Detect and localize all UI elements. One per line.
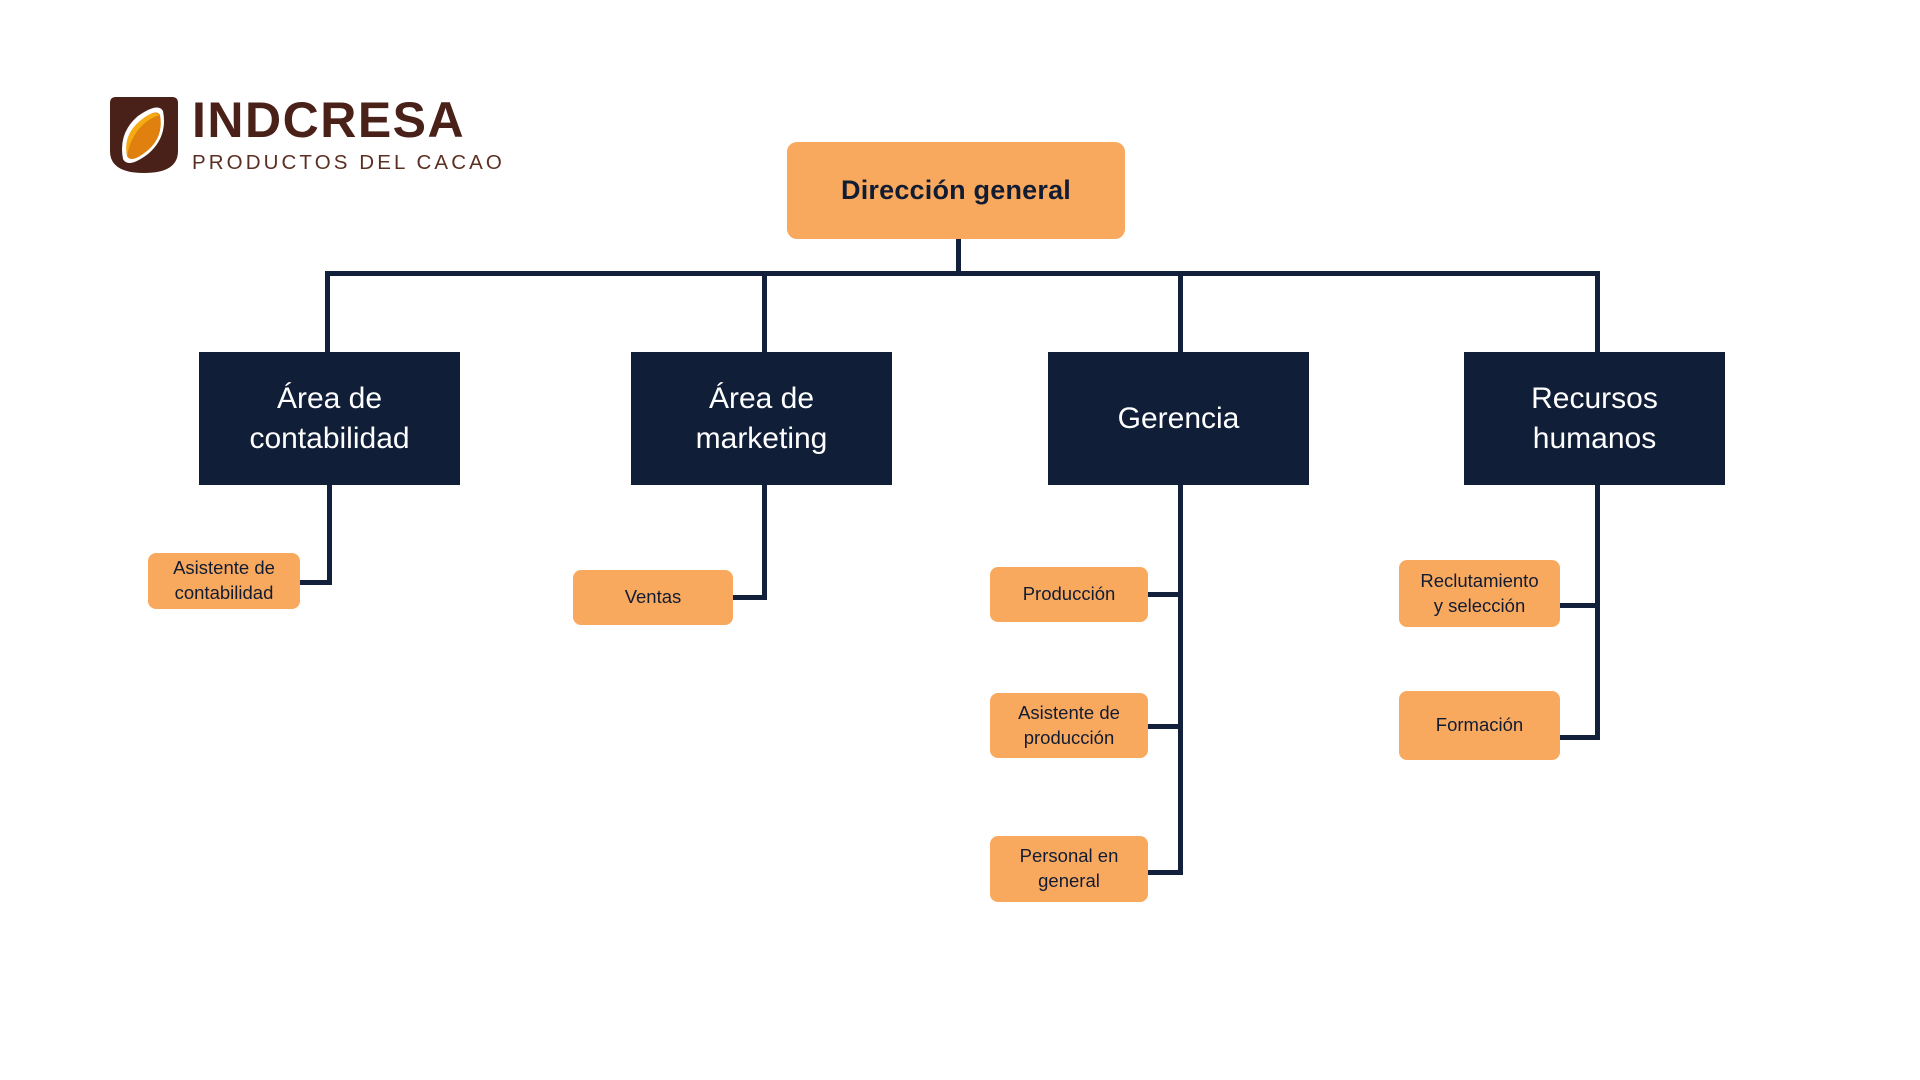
org-node-label: Dirección general	[841, 175, 1071, 206]
connector-spine-marketing	[762, 485, 767, 600]
org-node-ventas[interactable]: Ventas	[573, 570, 733, 625]
connector-drop-gerencia	[1178, 271, 1183, 353]
org-node-label: Producción	[1023, 582, 1116, 607]
org-node-label-line2: contabilidad	[175, 582, 274, 603]
connector-drop-contabilidad	[325, 271, 330, 353]
org-node-label-line1: Reclutamiento	[1420, 570, 1538, 591]
org-node-label: Personal en general	[1020, 844, 1119, 894]
connector-stub-produccion	[1148, 592, 1183, 597]
org-node-label: Gerencia	[1118, 399, 1240, 439]
org-node-label-line2: contabilidad	[249, 422, 409, 455]
org-node-label-line1: Área de	[709, 382, 814, 415]
org-node-label-line2: y selección	[1434, 595, 1526, 616]
org-node-label: Área de marketing	[696, 379, 828, 458]
connector-bus	[325, 271, 1600, 276]
connector-stub-reclutamiento	[1560, 603, 1600, 608]
org-node-produccion[interactable]: Producción	[990, 567, 1148, 622]
connector-spine-contabilidad	[327, 485, 332, 585]
org-node-label-line1: Área de	[277, 382, 382, 415]
org-node-label: Ventas	[625, 585, 682, 610]
org-node-gerencia[interactable]: Gerencia	[1048, 352, 1309, 485]
org-node-label-line2: humanos	[1533, 422, 1656, 455]
org-node-label: Recursos humanos	[1531, 379, 1658, 458]
cacao-bean-icon	[110, 97, 178, 173]
connector-stub-ventas	[733, 595, 767, 600]
org-node-label-line2: producción	[1024, 727, 1115, 748]
connector-spine-rrhh	[1595, 485, 1600, 738]
org-node-personal-general[interactable]: Personal en general	[990, 836, 1148, 902]
org-node-label: Área de contabilidad	[249, 379, 409, 458]
connector-spine-gerencia	[1178, 485, 1183, 875]
org-node-label: Formación	[1436, 713, 1523, 738]
connector-drop-rrhh	[1595, 271, 1600, 353]
org-node-label-line2: marketing	[696, 422, 828, 455]
connector-root-stem	[956, 238, 961, 273]
org-node-label-line1: Asistente de	[173, 557, 275, 578]
brand-name: INDCRESA	[192, 95, 505, 145]
brand-logo-text: INDCRESA PRODUCTOS DEL CACAO	[192, 95, 505, 175]
org-node-area-contabilidad[interactable]: Área de contabilidad	[199, 352, 460, 485]
org-node-label: Asistente de producción	[1018, 701, 1120, 751]
org-node-asistente-contabilidad[interactable]: Asistente de contabilidad	[148, 553, 300, 609]
org-node-area-marketing[interactable]: Área de marketing	[631, 352, 892, 485]
org-node-formacion[interactable]: Formación	[1399, 691, 1560, 760]
org-node-label-line1: Personal en	[1020, 845, 1119, 866]
org-node-label: Reclutamiento y selección	[1420, 569, 1538, 619]
org-node-direccion-general[interactable]: Dirección general	[787, 142, 1125, 239]
brand-logo: INDCRESA PRODUCTOS DEL CACAO	[110, 95, 505, 175]
org-node-label-line1: Recursos	[1531, 382, 1658, 415]
connector-stub-asistente-produccion	[1148, 724, 1183, 729]
org-chart-canvas: INDCRESA PRODUCTOS DEL CACAO Dirección g…	[0, 0, 1920, 1080]
connector-stub-personal-general	[1148, 870, 1183, 875]
connector-stub-formacion	[1560, 735, 1600, 740]
org-node-label: Asistente de contabilidad	[173, 556, 275, 606]
org-node-recursos-humanos[interactable]: Recursos humanos	[1464, 352, 1725, 485]
org-node-label-line1: Asistente de	[1018, 702, 1120, 723]
org-node-asistente-produccion[interactable]: Asistente de producción	[990, 693, 1148, 758]
org-node-label-line2: general	[1038, 870, 1100, 891]
brand-tagline: PRODUCTOS DEL CACAO	[192, 152, 505, 175]
connector-stub-asistente-contabilidad	[300, 580, 332, 585]
connector-drop-marketing	[762, 271, 767, 353]
org-node-reclutamiento-seleccion[interactable]: Reclutamiento y selección	[1399, 560, 1560, 627]
